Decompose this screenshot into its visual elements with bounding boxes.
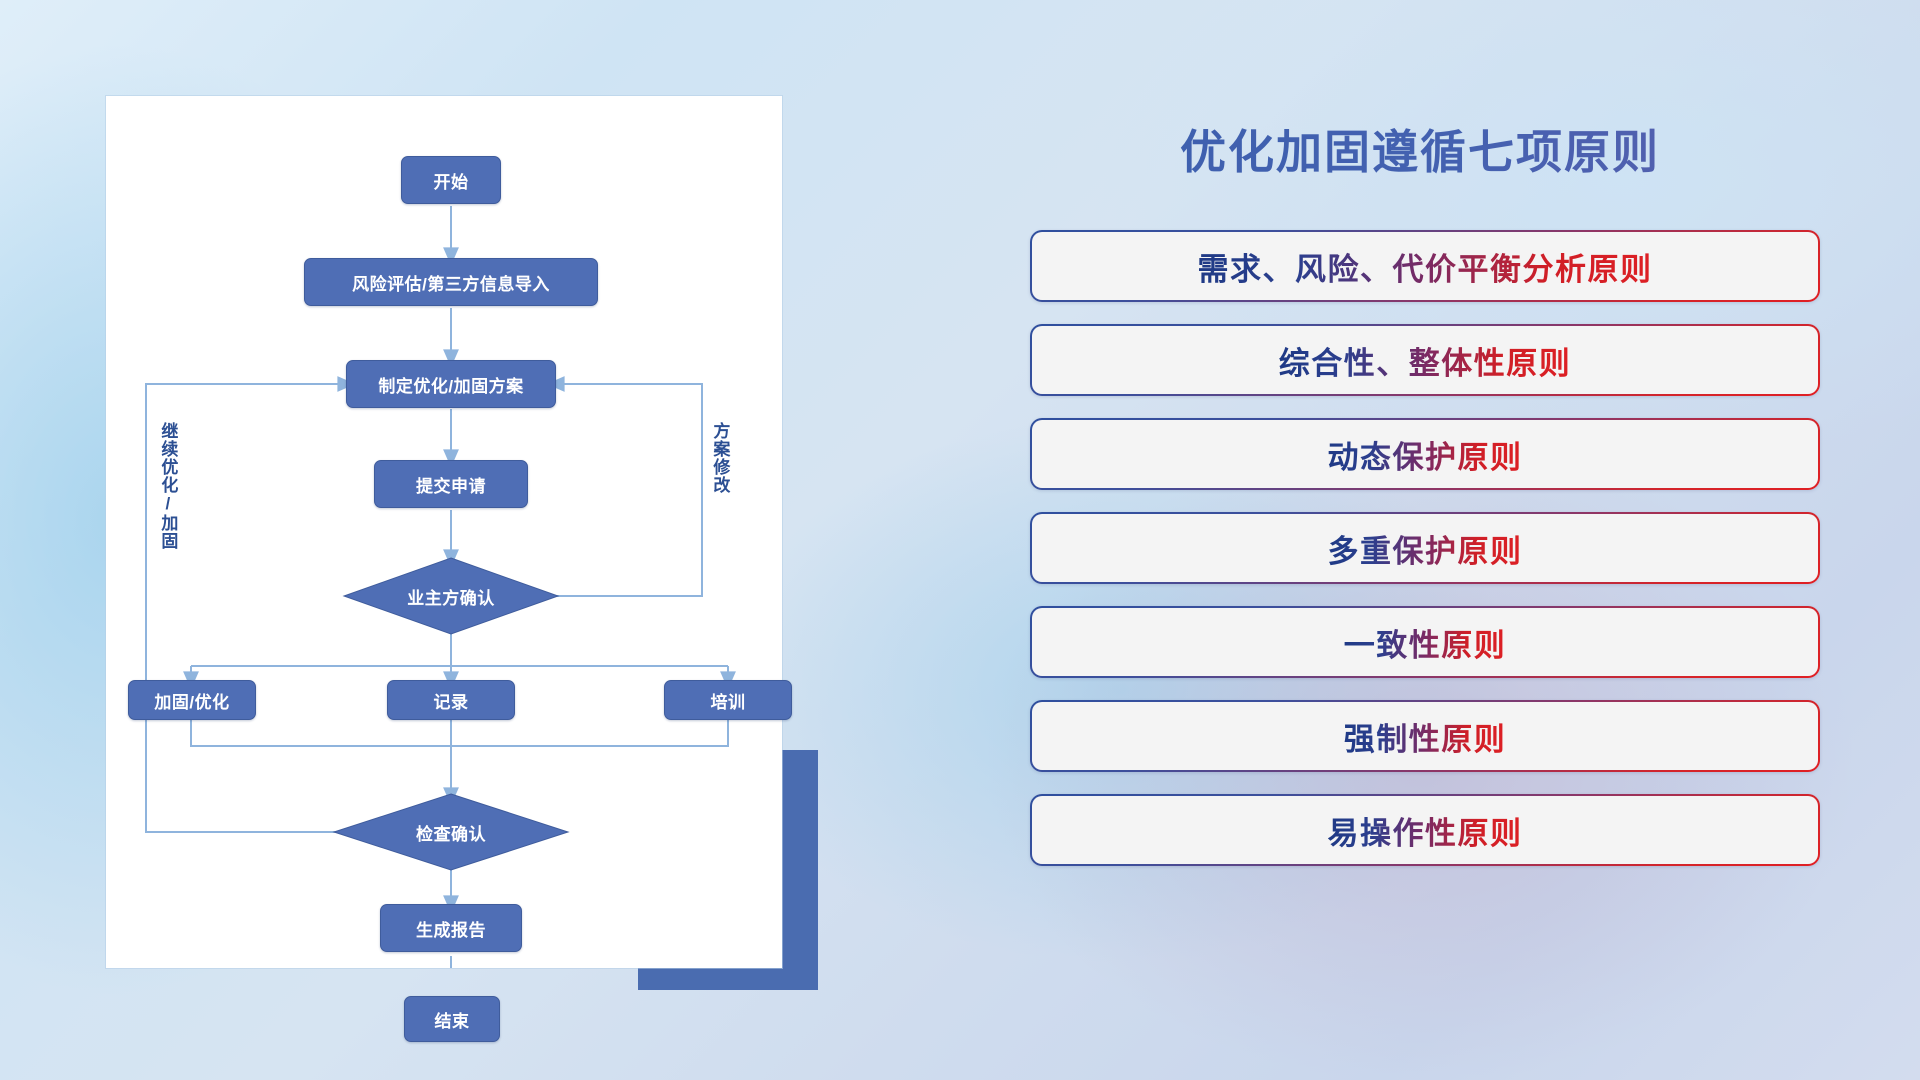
node-label: 记录 <box>434 688 469 713</box>
node-label: 提交申请 <box>416 472 486 497</box>
node-label: 制定优化/加固方案 <box>378 372 523 397</box>
principles-list: 需求、风险、代价平衡分析原则 综合性、整体性原则 动态保护原则 多重保护原则 <box>1030 230 1820 866</box>
principle-label: 易操作性原则 <box>1328 808 1523 853</box>
principle-label: 多重保护原则 <box>1328 526 1523 571</box>
node-make-plan[interactable]: 制定优化/加固方案 <box>346 360 556 408</box>
decision-inspection-confirm-label: 检查确认 <box>351 814 551 850</box>
principle-label: 一致性原则 <box>1344 620 1507 665</box>
node-label: 结束 <box>435 1007 470 1032</box>
flowchart-card: 开始 风险评估/第三方信息导入 制定优化/加固方案 提交申请 业主方确认 加固/… <box>106 96 782 968</box>
principle-card-inner: 一致性原则 <box>1032 608 1818 676</box>
principle-label: 强制性原则 <box>1344 714 1507 759</box>
principle-card-1[interactable]: 需求、风险、代价平衡分析原则 <box>1030 230 1820 302</box>
principle-card-inner: 综合性、整体性原则 <box>1032 326 1818 394</box>
node-record[interactable]: 记录 <box>387 680 515 720</box>
slide-root: 开始 风险评估/第三方信息导入 制定优化/加固方案 提交申请 业主方确认 加固/… <box>0 0 1920 1080</box>
node-reinforce-optimize[interactable]: 加固/优化 <box>128 680 256 720</box>
principle-card-2[interactable]: 综合性、整体性原则 <box>1030 324 1820 396</box>
principle-label: 综合性、整体性原则 <box>1279 338 1572 383</box>
principle-label: 需求、风险、代价平衡分析原则 <box>1198 244 1653 289</box>
principle-card-6[interactable]: 强制性原则 <box>1030 700 1820 772</box>
edge-label-continue-optimize: 继续优化/加固 <box>158 422 176 550</box>
principles-panel: 优化加固遵循七项原则 需求、风险、代价平衡分析原则 综合性、整体性原则 动态保护… <box>1010 96 1830 996</box>
principle-label: 动态保护原则 <box>1328 432 1523 477</box>
principle-card-5[interactable]: 一致性原则 <box>1030 606 1820 678</box>
principle-card-inner: 易操作性原则 <box>1032 796 1818 864</box>
principle-card-7[interactable]: 易操作性原则 <box>1030 794 1820 866</box>
node-label: 风险评估/第三方信息导入 <box>352 270 550 295</box>
principle-card-inner: 动态保护原则 <box>1032 420 1818 488</box>
node-end[interactable]: 结束 <box>404 996 500 1042</box>
node-label: 生成报告 <box>416 916 486 941</box>
node-label: 加固/优化 <box>154 688 229 713</box>
node-start[interactable]: 开始 <box>401 156 501 204</box>
node-risk-assessment[interactable]: 风险评估/第三方信息导入 <box>304 258 598 306</box>
principle-card-inner: 多重保护原则 <box>1032 514 1818 582</box>
principle-card-inner: 强制性原则 <box>1032 702 1818 770</box>
flowchart: 开始 风险评估/第三方信息导入 制定优化/加固方案 提交申请 业主方确认 加固/… <box>106 96 782 968</box>
principle-card-inner: 需求、风险、代价平衡分析原则 <box>1032 232 1818 300</box>
node-label: 培训 <box>711 688 746 713</box>
decision-owner-confirm-label: 业主方确认 <box>351 578 551 614</box>
principle-card-3[interactable]: 动态保护原则 <box>1030 418 1820 490</box>
node-submit-application[interactable]: 提交申请 <box>374 460 528 508</box>
node-label: 开始 <box>434 168 469 193</box>
page-title: 优化加固遵循七项原则 <box>1010 116 1830 182</box>
principle-card-4[interactable]: 多重保护原则 <box>1030 512 1820 584</box>
node-generate-report[interactable]: 生成报告 <box>380 904 522 952</box>
node-training[interactable]: 培训 <box>664 680 792 720</box>
edge-label-plan-revision: 方案修改 <box>710 422 728 494</box>
